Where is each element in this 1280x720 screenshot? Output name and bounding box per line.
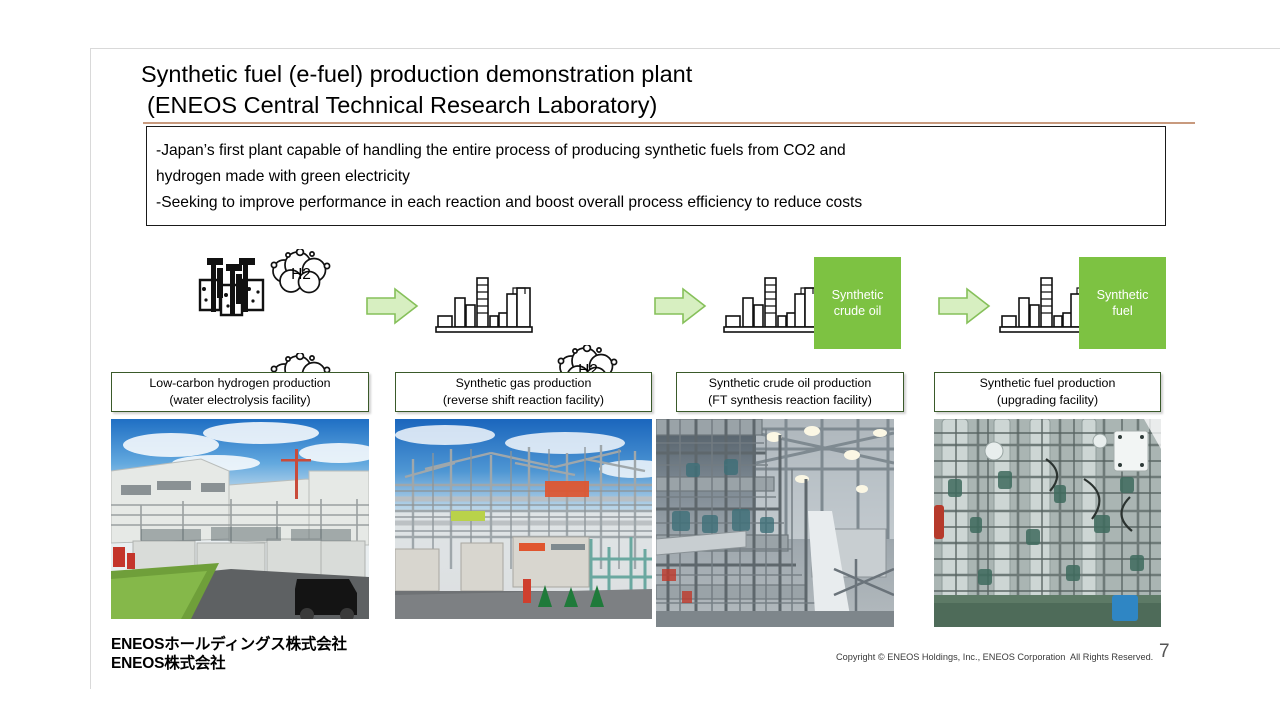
caption-3-line-1: Synthetic crude oil production [709,375,872,392]
caption-2-line-1: Synthetic gas production [456,375,592,392]
caption-box-3: Synthetic crude oil production (FT synth… [676,372,904,412]
caption-2-line-2: (reverse shift reaction facility) [443,392,604,409]
eneos-logo: ENEOSホールディングス株式会社 ENEOS株式会社 [111,635,347,673]
logo-line-1: ENEOSホールディングス株式会社 [111,635,347,654]
photo-reverse-shift-facility [395,419,652,619]
synthetic-crude-oil-line-2: crude oil [832,303,884,319]
caption-1-line-1: Low-carbon hydrogen production [149,375,330,392]
caption-4-line-2: (upgrading facility) [997,392,1098,409]
title-line-2: (ENEOS Central Technical Research Labora… [141,90,1201,121]
title-line-1: Synthetic fuel (e-fuel) production demon… [141,59,1201,90]
caption-4-line-1: Synthetic fuel production [980,375,1116,392]
caption-3-line-2: (FT synthesis reaction facility) [708,392,872,409]
photo-ft-synthesis-facility [656,419,894,627]
right-arrow-icon-3 [937,287,991,330]
caption-box-1: Low-carbon hydrogen production (water el… [111,372,369,412]
chemical-plant-icon-1 [435,272,533,339]
copyright-notice: Copyright © ENEOS Holdings, Inc., ENEOS … [836,652,1153,662]
page-title: Synthetic fuel (e-fuel) production demon… [141,59,1201,121]
h2-cloud-1: H2 [264,249,338,297]
right-arrow-icon-2 [653,287,707,330]
electrolysis-cells-icon [195,254,267,327]
slide-canvas: Synthetic fuel (e-fuel) production demon… [90,48,1280,689]
synthetic-fuel-output-box: Synthetic fuel [1079,257,1166,349]
process-flow-diagram: H2 CO2 [91,239,1280,364]
synthetic-fuel-line-1: Synthetic [1097,287,1149,303]
summary-line-1: -Japan’s first plant capable of handling… [156,138,1155,164]
photo-upgrading-facility [934,419,1161,627]
caption-box-4: Synthetic fuel production (upgrading fac… [934,372,1161,412]
caption-1-line-2: (water electrolysis facility) [169,392,310,409]
synthetic-fuel-line-2: fuel [1097,303,1149,319]
chemical-plant-icon-2 [723,272,821,339]
logo-line-2: ENEOS株式会社 [111,654,347,673]
synthetic-crude-oil-output-box: Synthetic crude oil [814,257,901,349]
summary-line-3: -Seeking to improve performance in each … [156,190,1155,216]
summary-text-box: -Japan’s first plant capable of handling… [146,126,1166,226]
h2-cloud-1-label: H2 [264,249,338,297]
summary-line-2: hydrogen made with green electricity [156,164,1155,190]
synthetic-crude-oil-line-1: Synthetic [832,287,884,303]
page-number: 7 [1159,641,1170,663]
photo-electrolysis-facility [111,419,369,619]
right-arrow-icon-1 [365,287,419,330]
title-underline-rule [143,122,1195,124]
caption-box-2: Synthetic gas production (reverse shift … [395,372,652,412]
